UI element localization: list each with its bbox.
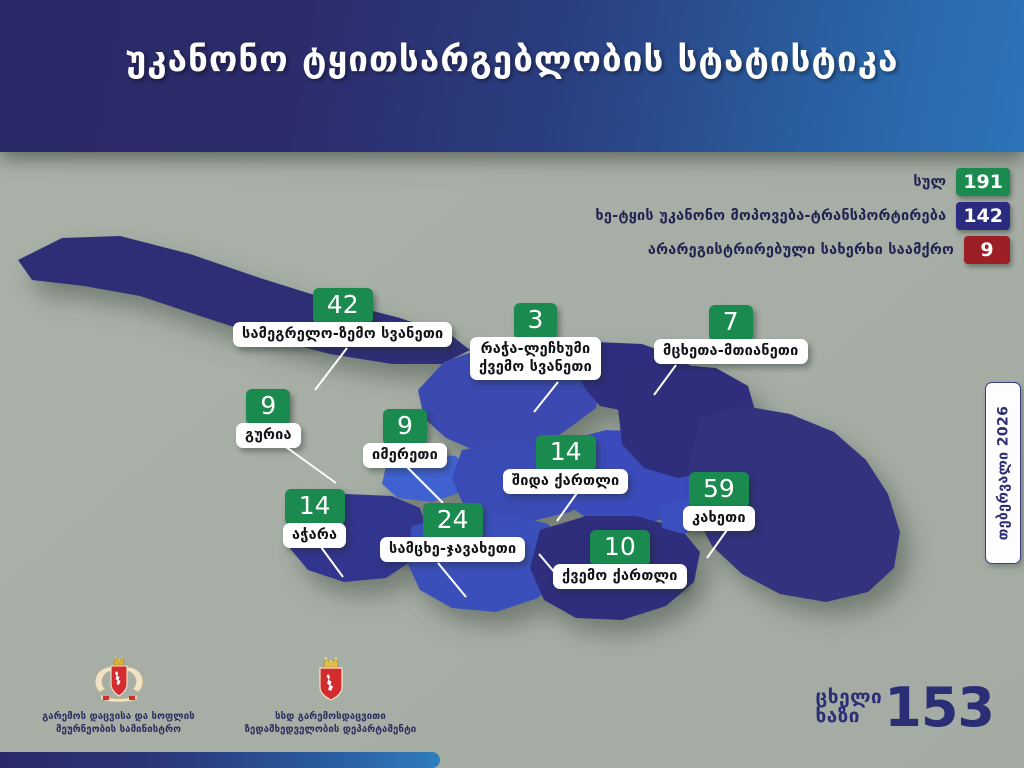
callout-guria[interactable]: 9 გურია	[236, 389, 301, 448]
legend-item-total: სულ 191	[595, 168, 1010, 196]
legend-label: არარეგისტრირებული სახერხი საამქრო	[648, 242, 954, 258]
callout-value: 3	[514, 303, 558, 339]
legend-value-total: 191	[956, 168, 1010, 196]
legend: სულ 191 ხე-ტყის უკანონო მოპოვება-ტრანსპო…	[595, 168, 1010, 270]
callout-value: 7	[709, 305, 753, 341]
callout-achara[interactable]: 14 აჭარა	[283, 489, 346, 548]
leader-line	[551, 491, 601, 531]
bottom-accent-bar	[0, 752, 440, 768]
callout-imereti[interactable]: 9 იმერეთი	[363, 409, 447, 468]
date-tag-label: თებერვალი 2026	[995, 406, 1011, 541]
org-label: გარემოს დაცვისა და სოფლის მეურნეობის სამ…	[16, 711, 221, 737]
org-label: სსდ გარემოსდაცვითი ზედამხედველობის დეპარ…	[228, 711, 433, 737]
leader-line	[701, 528, 751, 568]
callout-value: 9	[383, 409, 427, 445]
hotline-number: 153	[884, 686, 994, 730]
header-banner: უკანონო ტყითსარგებლობის სტატისტიკა	[0, 0, 1024, 152]
georgia-lesser-coat-of-arms-icon	[311, 655, 351, 703]
callout-kakheti[interactable]: 59 კახეთი	[683, 472, 755, 531]
callout-value: 9	[246, 389, 290, 425]
page-title: უკანონო ტყითსარგებლობის სტატისტიკა	[0, 40, 1024, 80]
legend-value-unregistered-sawmill: 9	[964, 236, 1010, 264]
callout-label: კახეთი	[683, 506, 755, 531]
callout-shida-kartli[interactable]: 14 შიდა ქართლი	[503, 435, 628, 494]
callout-label: აჭარა	[283, 523, 346, 548]
org-ministry-of-environment: გარემოს დაცვისა და სოფლის მეურნეობის სამ…	[16, 655, 221, 737]
leader-line	[432, 561, 492, 605]
infographic-canvas: უკანონო ტყითსარგებლობის სტატისტიკა	[0, 0, 1024, 768]
legend-item-unregistered-sawmill: არარეგისტრირებული სახერხი საამქრო 9	[595, 236, 1010, 264]
org-environmental-supervision-department: სსდ გარემოსდაცვითი ზედამხედველობის დეპარ…	[228, 655, 433, 737]
callout-label: შიდა ქართლი	[503, 469, 628, 494]
hotline-label: ცხელი ხაზი	[815, 688, 882, 727]
date-tag: თებერვალი 2026	[985, 382, 1021, 564]
leader-line	[646, 363, 696, 403]
legend-item-illegal-logging-transport: ხე-ტყის უკანონო მოპოვება-ტრანსპორტირება …	[595, 202, 1010, 230]
callout-label: გურია	[236, 423, 301, 448]
callout-mtskheta-mtianeti[interactable]: 7 მცხეთა-მთიანეთი	[654, 305, 808, 364]
callout-value: 14	[285, 489, 345, 525]
callout-value: 24	[423, 503, 483, 539]
hotline: ცხელი ხაზი 153	[815, 686, 994, 730]
footer-organizations: გარემოს დაცვისა და სოფლის მეურნეობის სამ…	[0, 655, 520, 755]
callout-value: 42	[313, 288, 373, 324]
leader-line	[526, 380, 576, 420]
callout-kvemo-kartli[interactable]: 10 ქვემო ქართლი	[553, 530, 687, 589]
callout-racha-lechkhumi-kvemo-svaneti[interactable]: 3 რაჭა-ლეჩხუმი ქვემო სვანეთი	[470, 303, 601, 380]
legend-value-illegal-logging-transport: 142	[956, 202, 1010, 230]
georgia-greater-coat-of-arms-icon	[91, 655, 147, 703]
callout-label: რაჭა-ლეჩხუმი ქვემო სვანეთი	[470, 337, 601, 380]
callout-value: 10	[590, 530, 650, 566]
leader-line	[317, 545, 367, 585]
legend-label: სულ	[913, 174, 946, 190]
callout-label: იმერეთი	[363, 443, 447, 468]
callout-samtskhe-javakheti[interactable]: 24 სამცხე-ჯავახეთი	[380, 503, 525, 562]
legend-label: ხე-ტყის უკანონო მოპოვება-ტრანსპორტირება	[595, 208, 946, 224]
leader-line	[531, 550, 581, 590]
leader-line	[303, 346, 363, 396]
callout-value: 14	[536, 435, 596, 471]
callout-samegrelo-zemo-svaneti[interactable]: 42 სამეგრელო-ზემო სვანეთი	[233, 288, 452, 347]
callout-label: სამეგრელო-ზემო სვანეთი	[233, 322, 452, 347]
leader-line	[280, 445, 350, 489]
callout-label: მცხეთა-მთიანეთი	[654, 339, 808, 364]
callout-label: სამცხე-ჯავახეთი	[380, 537, 525, 562]
callout-value: 59	[689, 472, 749, 508]
